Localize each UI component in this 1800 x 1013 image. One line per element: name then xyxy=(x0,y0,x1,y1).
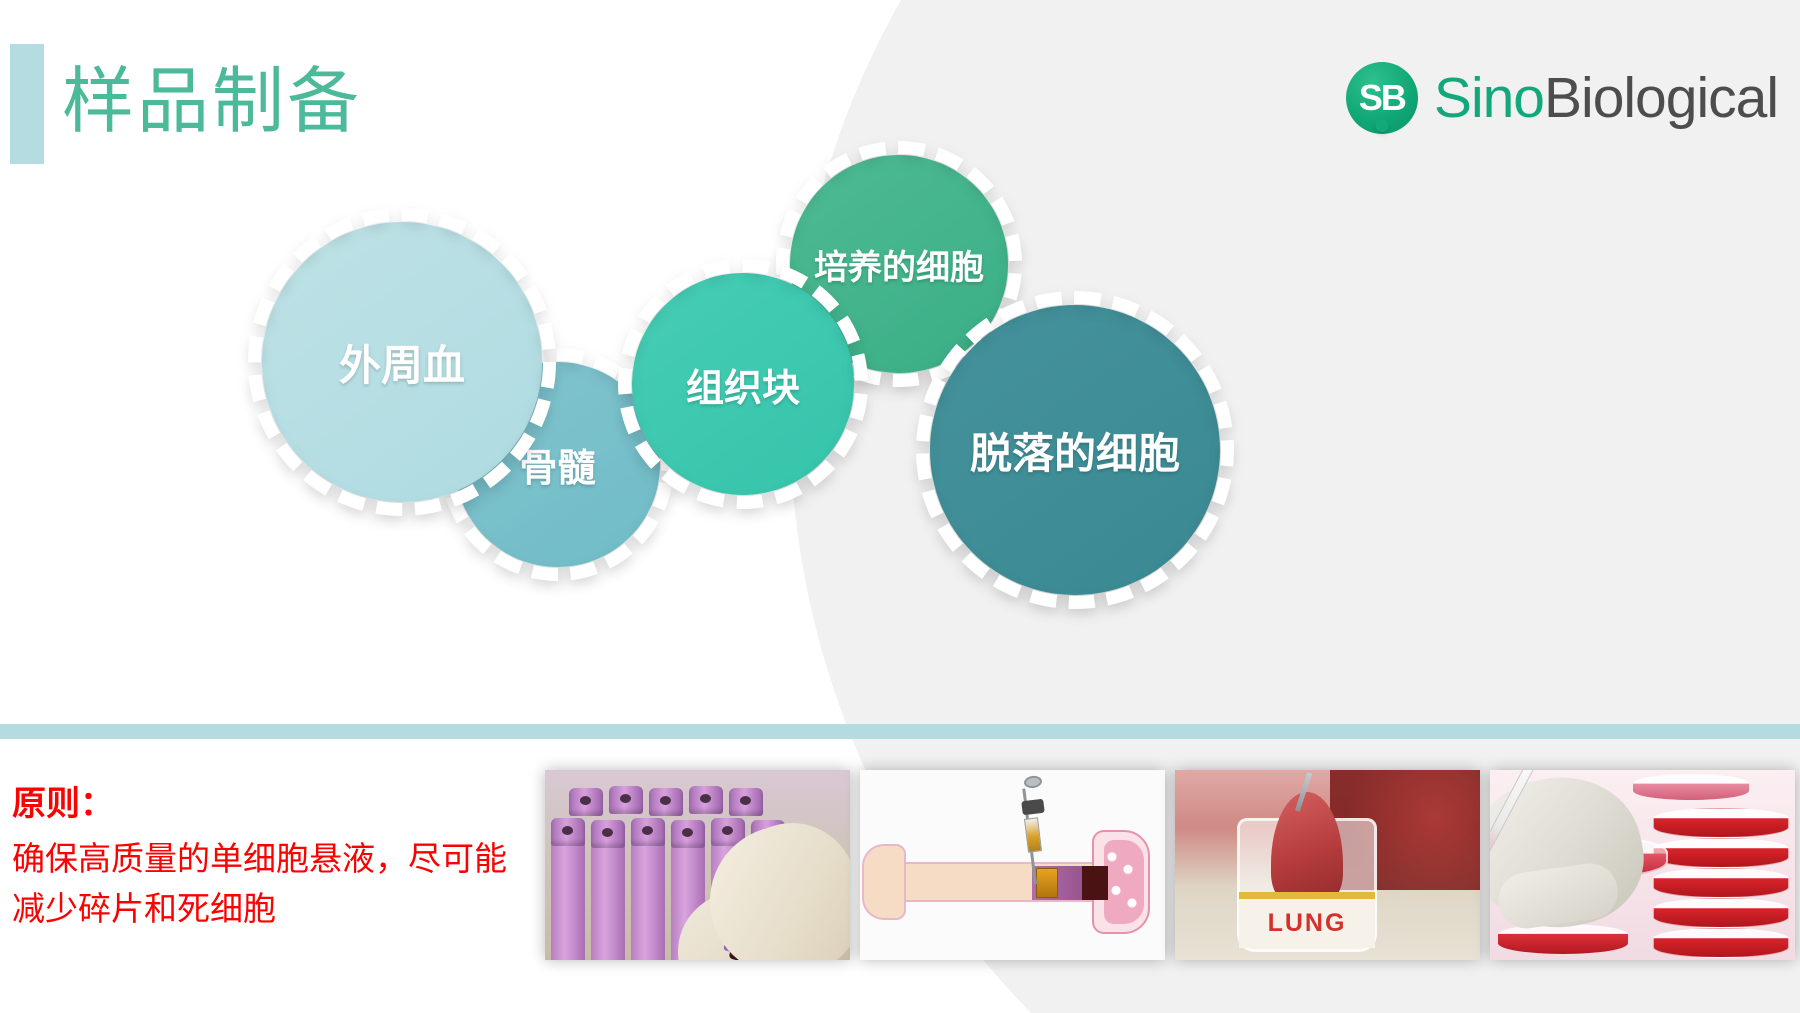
logo-word-biological: Biological xyxy=(1544,66,1778,130)
circle-label: 外周血 xyxy=(339,332,465,393)
logo-wordmark: SinoBiological xyxy=(1434,70,1778,127)
principle-line-2: 减少碎片和死细胞 xyxy=(12,884,507,934)
logo-dot-icon xyxy=(1375,119,1388,132)
specimen-jar-label-text: LUNG xyxy=(1268,909,1347,938)
circle-label: 脱落的细胞 xyxy=(970,420,1180,481)
syringe-plunger-graphic xyxy=(1021,799,1045,816)
logo-mark-icon: SB xyxy=(1346,62,1418,134)
circle-label: 组织块 xyxy=(686,357,800,412)
slide-root: 样品制备 SB SinoBiological 外周血 骨髓 组织块 培养的细胞 … xyxy=(0,0,1800,1013)
principle-line-1: 确保高质量的单细胞悬液，尽可能 xyxy=(12,834,507,884)
principle-heading: 原则： xyxy=(12,780,507,828)
front-dish-graphic xyxy=(1498,924,1628,954)
dark-marrow-graphic xyxy=(1082,866,1108,900)
cell-culture-dishes-photo xyxy=(1490,770,1795,960)
marrow-sample-graphic xyxy=(1036,868,1058,898)
bone-marrow-aspiration-diagram xyxy=(860,770,1165,960)
brand-logo: SB SinoBiological xyxy=(1346,62,1778,134)
section-divider xyxy=(0,724,1800,739)
principle-block: 原则： 确保高质量的单细胞悬液，尽可能 减少碎片和死细胞 xyxy=(12,780,507,934)
sample-source-circle-tissue-block: 组织块 xyxy=(632,273,854,495)
spongy-bone-graphic xyxy=(1104,840,1144,924)
syringe-barrel-graphic xyxy=(1024,817,1042,852)
specimen-jar-label: LUNG xyxy=(1239,892,1375,948)
blood-collection-tubes-photo xyxy=(545,770,850,960)
logo-mark-text: SB xyxy=(1359,77,1405,119)
title-accent-bar xyxy=(10,44,44,164)
photo-strip: LUNG xyxy=(545,770,1800,960)
logo-word-sino: Sino xyxy=(1434,66,1544,130)
page-title: 样品制备 xyxy=(62,46,362,158)
sample-source-circle-shed-cells: 脱落的细胞 xyxy=(930,305,1220,595)
sample-source-circle-peripheral-blood: 外周血 xyxy=(262,222,542,502)
bone-epiphysis-left-graphic xyxy=(862,844,906,920)
lung-tissue-specimen-photo: LUNG xyxy=(1175,770,1480,960)
petri-dish-stack-graphic xyxy=(1653,790,1789,958)
circle-label: 培养的细胞 xyxy=(814,240,984,289)
syringe-thumb-ring-graphic xyxy=(1023,775,1042,789)
